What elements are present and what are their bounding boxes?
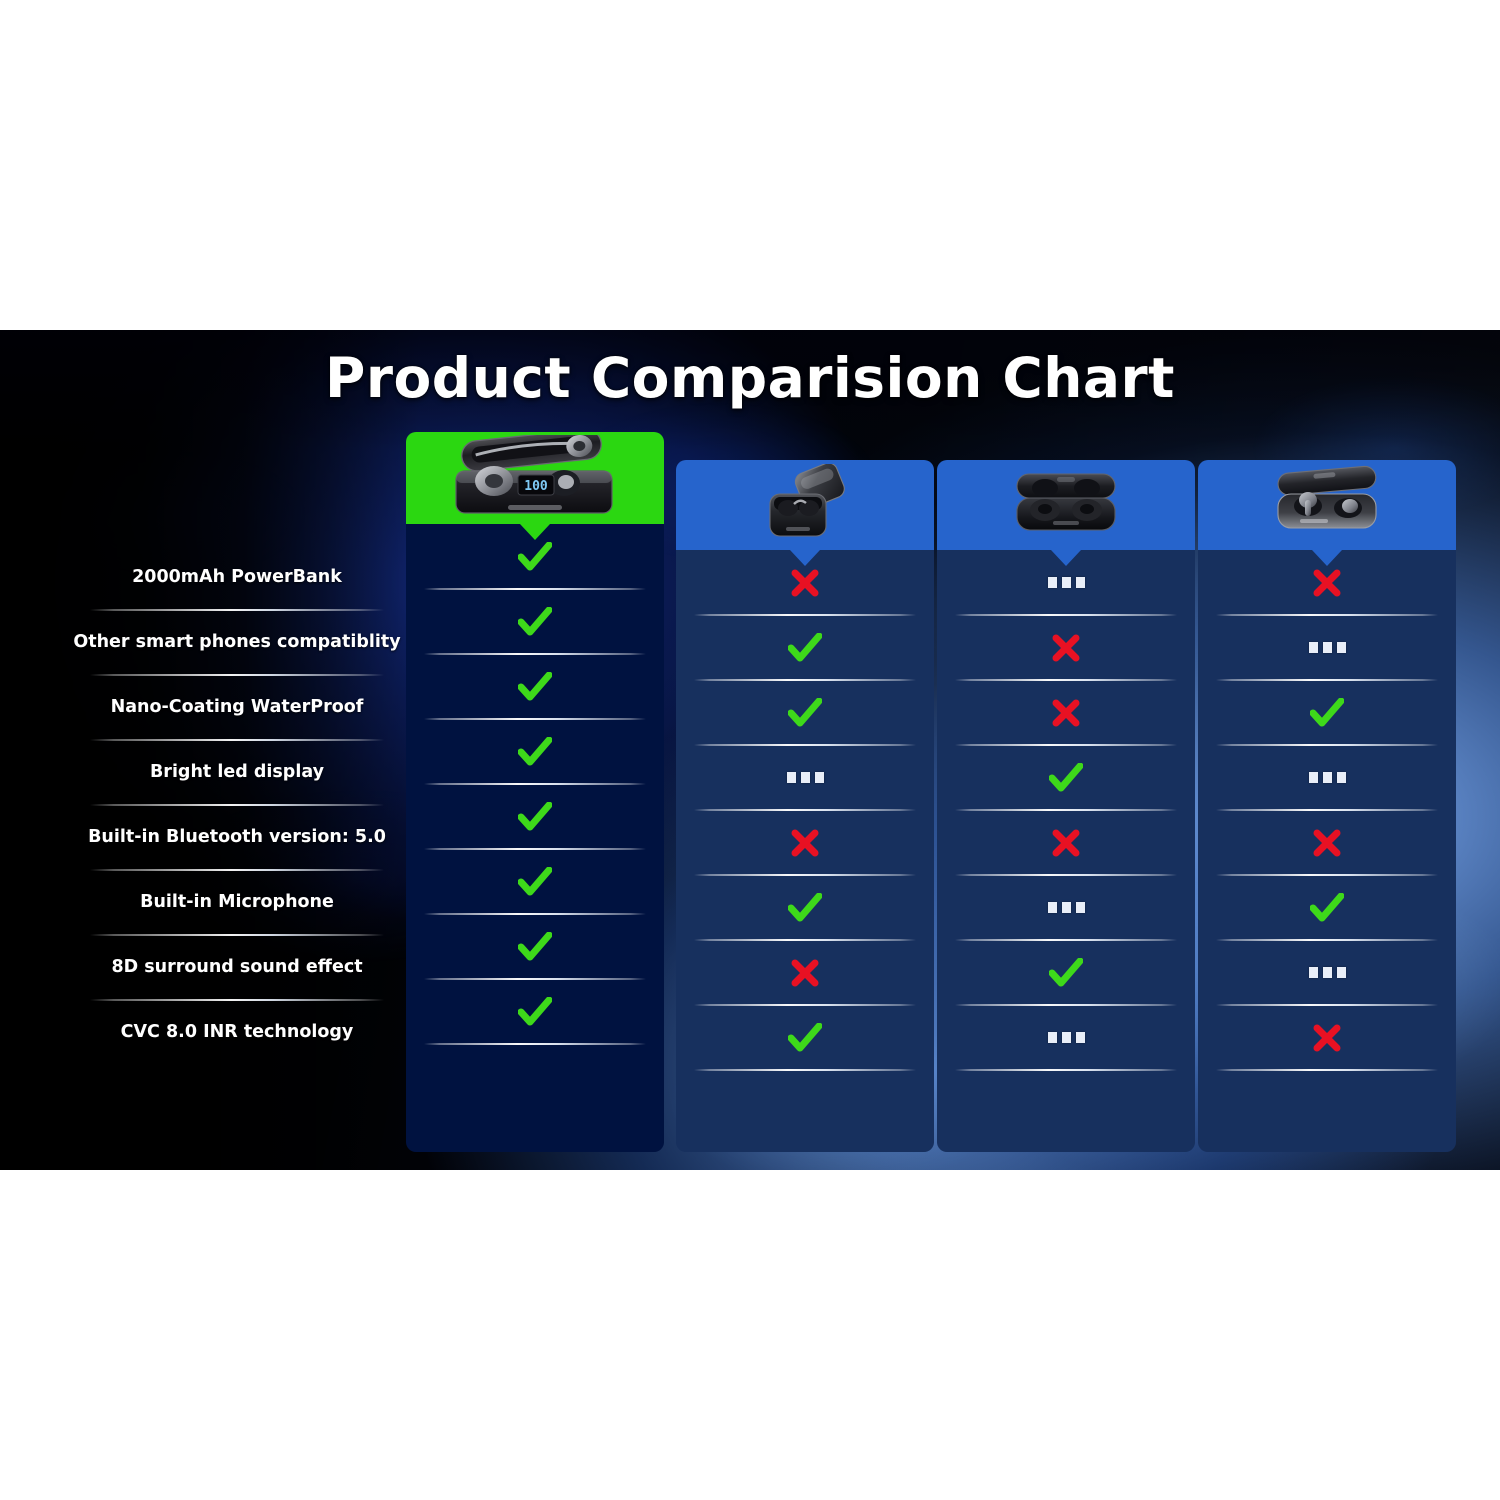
partial-dots-icon — [1309, 642, 1346, 653]
column-1-cells — [406, 524, 664, 1044]
cell-c3-r7 — [937, 940, 1195, 1005]
feature-label-column: 2000mAh PowerBank Other smart phones com… — [78, 545, 396, 1065]
cell-divider — [424, 1043, 646, 1045]
cell-c1-r4 — [406, 719, 664, 784]
cell-c2-r7 — [676, 940, 934, 1005]
feature-label: Built-in Bluetooth version: 5.0 — [88, 828, 386, 847]
feature-row: Bright led display — [78, 740, 396, 805]
partial-dots-icon — [1048, 577, 1085, 588]
check-icon — [788, 633, 822, 663]
cross-icon — [790, 828, 820, 858]
check-icon — [518, 607, 552, 637]
cell-c3-r6 — [937, 875, 1195, 940]
check-icon — [518, 672, 552, 702]
check-icon — [1049, 763, 1083, 793]
product-column-3-body — [937, 550, 1195, 1152]
partial-dots-icon — [1048, 1032, 1085, 1043]
check-icon — [1049, 763, 1083, 793]
partial-dots-icon — [787, 772, 824, 783]
check-icon — [1310, 893, 1344, 923]
cell-c2-r5 — [676, 810, 934, 875]
check-icon — [788, 893, 822, 923]
product-column-3-header — [937, 460, 1195, 550]
cross-icon — [790, 828, 820, 858]
partial-dots-icon — [1048, 577, 1085, 588]
feature-label: 2000mAh PowerBank — [132, 568, 342, 587]
cell-c2-r3 — [676, 680, 934, 745]
cross-icon — [1051, 698, 1081, 728]
cell-c4-r5 — [1198, 810, 1456, 875]
cell-c4-r8 — [1198, 1005, 1456, 1070]
cell-c2-r4 — [676, 745, 934, 810]
feature-label: Nano-Coating WaterProof — [111, 698, 364, 717]
cell-c4-r2 — [1198, 615, 1456, 680]
product-column-1[interactable]: 100 — [406, 432, 664, 1152]
comparison-table: 2000mAh PowerBank Other smart phones com… — [0, 330, 1500, 1170]
partial-dots-icon — [1048, 902, 1085, 913]
feature-label: Built-in Microphone — [140, 893, 334, 912]
check-icon — [1310, 698, 1344, 728]
check-icon — [518, 542, 552, 572]
cross-icon — [1312, 828, 1342, 858]
feature-row: Nano-Coating WaterProof — [78, 675, 396, 740]
cell-c1-r6 — [406, 849, 664, 914]
cell-c4-r7 — [1198, 940, 1456, 1005]
column-2-cells — [676, 550, 934, 1070]
check-icon — [518, 737, 552, 767]
cross-icon — [1312, 568, 1342, 598]
product-column-4-header — [1198, 460, 1456, 550]
partial-dots-icon — [1048, 902, 1085, 913]
column-4-cells — [1198, 550, 1456, 1070]
partial-dots-icon — [1309, 967, 1346, 978]
check-icon — [518, 802, 552, 832]
cross-icon — [1051, 828, 1081, 858]
check-icon — [518, 672, 552, 702]
feature-label: 8D surround sound effect — [111, 958, 362, 977]
cell-divider — [1216, 1069, 1438, 1071]
cell-c3-r8 — [937, 1005, 1195, 1070]
cross-icon — [790, 958, 820, 988]
check-icon — [788, 893, 822, 923]
partial-dots-icon — [1309, 772, 1346, 783]
cell-c4-r3 — [1198, 680, 1456, 745]
partial-dots-icon — [1309, 642, 1346, 653]
product-column-1-header: 100 — [406, 432, 664, 524]
feature-row: CVC 8.0 INR technology — [78, 1000, 396, 1065]
cell-c2-r6 — [676, 875, 934, 940]
product-column-2[interactable] — [676, 460, 934, 1152]
product-column-1-body — [406, 524, 664, 1152]
check-icon — [518, 932, 552, 962]
cross-icon — [1312, 1023, 1342, 1053]
column-3-cells — [937, 550, 1195, 1070]
cell-c1-r5 — [406, 784, 664, 849]
partial-dots-icon — [1309, 772, 1346, 783]
check-icon — [1049, 958, 1083, 988]
comparison-chart-artboard: Product Comparision Chart 2000mAh PowerB… — [0, 330, 1500, 1170]
check-icon — [518, 607, 552, 637]
cell-c2-r8 — [676, 1005, 934, 1070]
check-icon — [518, 997, 552, 1027]
feature-label: CVC 8.0 INR technology — [121, 1023, 354, 1042]
earbuds-charging-case-led-100-icon: 100 — [442, 435, 628, 522]
check-icon — [1310, 698, 1344, 728]
cell-c1-r3 — [406, 654, 664, 719]
check-icon — [518, 737, 552, 767]
partial-dots-icon — [1309, 967, 1346, 978]
cross-icon — [790, 958, 820, 988]
partial-dots-icon — [1048, 1032, 1085, 1043]
cross-icon — [1312, 828, 1342, 858]
check-icon — [518, 867, 552, 897]
feature-label: Bright led display — [150, 763, 324, 782]
cell-c3-r3 — [937, 680, 1195, 745]
cross-icon — [1312, 1023, 1342, 1053]
check-icon — [788, 698, 822, 728]
earbuds-square-case-open-icon — [746, 464, 864, 547]
led-readout: 100 — [524, 479, 548, 494]
cell-c3-r2 — [937, 615, 1195, 680]
check-icon — [1049, 958, 1083, 988]
feature-row: Other smart phones compatiblity — [78, 610, 396, 675]
column-3-pointer — [1051, 550, 1081, 566]
cross-icon — [1051, 698, 1081, 728]
cross-icon — [1051, 633, 1081, 663]
screenshot-canvas: Product Comparision Chart 2000mAh PowerB… — [0, 0, 1500, 1500]
cell-c1-r2 — [406, 589, 664, 654]
cell-c1-r7 — [406, 914, 664, 979]
feature-row: 8D surround sound effect — [78, 935, 396, 1000]
check-icon — [518, 997, 552, 1027]
cell-divider — [694, 1069, 916, 1071]
check-icon — [1310, 893, 1344, 923]
earbuds-pill-case-black-icon — [1005, 466, 1127, 545]
cell-c4-r4 — [1198, 745, 1456, 810]
cell-c1-r8 — [406, 979, 664, 1044]
earbuds-pill-case-silver-icon — [1264, 464, 1390, 547]
column-4-pointer — [1312, 550, 1342, 566]
check-icon — [518, 932, 552, 962]
partial-dots-icon — [787, 772, 824, 783]
cross-icon — [1051, 828, 1081, 858]
check-icon — [518, 802, 552, 832]
feature-row: Built-in Bluetooth version: 5.0 — [78, 805, 396, 870]
cross-icon — [1312, 568, 1342, 598]
product-column-3[interactable] — [937, 460, 1195, 1152]
feature-row: Built-in Microphone — [78, 870, 396, 935]
feature-label: Other smart phones compatiblity — [73, 633, 400, 652]
column-2-pointer — [790, 550, 820, 566]
check-icon — [788, 1023, 822, 1053]
check-icon — [788, 633, 822, 663]
cell-divider — [955, 1069, 1177, 1071]
cross-icon — [790, 568, 820, 598]
cross-icon — [1051, 633, 1081, 663]
cross-icon — [790, 568, 820, 598]
product-column-4-body — [1198, 550, 1456, 1152]
feature-row: 2000mAh PowerBank — [78, 545, 396, 610]
cell-c2-r2 — [676, 615, 934, 680]
check-icon — [518, 867, 552, 897]
check-icon — [788, 698, 822, 728]
check-icon — [518, 542, 552, 572]
cell-c3-r5 — [937, 810, 1195, 875]
column-1-pointer — [520, 524, 550, 540]
cell-c3-r4 — [937, 745, 1195, 810]
product-column-2-header — [676, 460, 934, 550]
check-icon — [788, 1023, 822, 1053]
cell-c4-r6 — [1198, 875, 1456, 940]
product-column-4[interactable] — [1198, 460, 1456, 1152]
product-column-2-body — [676, 550, 934, 1152]
